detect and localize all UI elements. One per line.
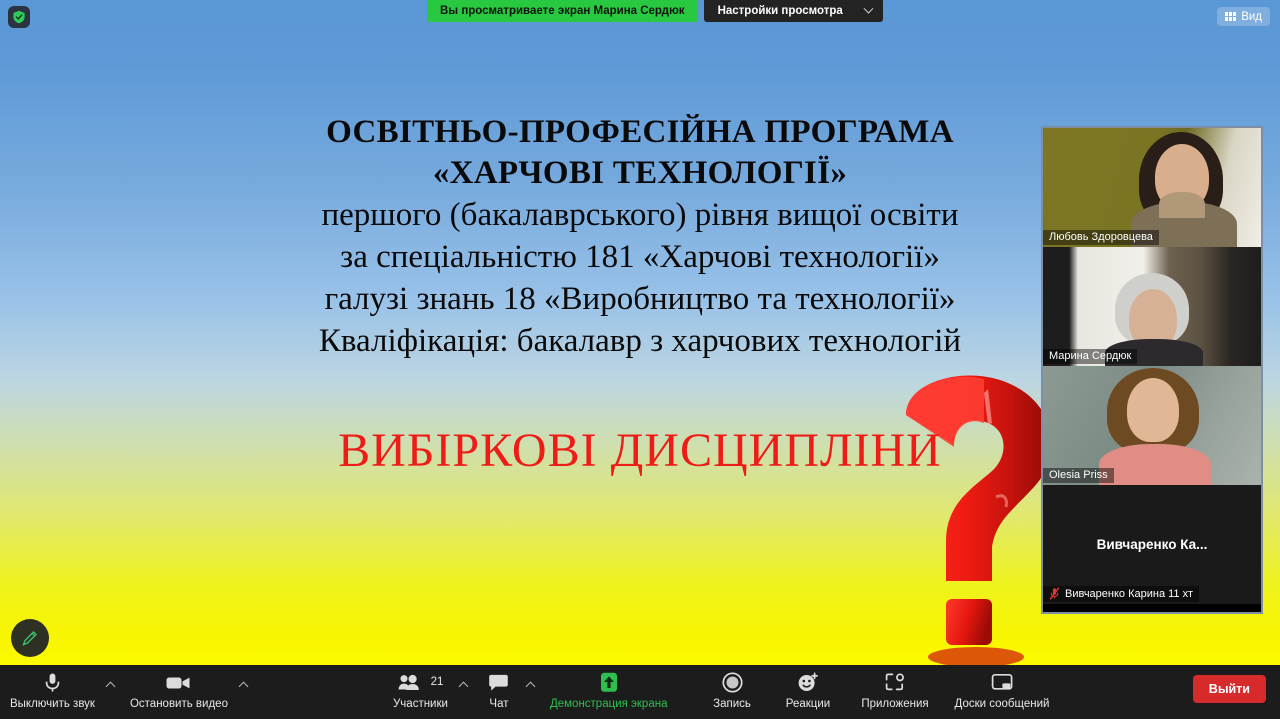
participants-count: 21 — [431, 676, 444, 689]
video-tile-marina[interactable]: Марина Сердюк — [1043, 247, 1261, 366]
whiteboards-button[interactable]: Доски сообщений — [943, 665, 1061, 711]
participant-name-text: Марина Сердюк — [1049, 350, 1131, 362]
chevron-up-icon — [239, 682, 249, 692]
participant-name-text: Вивчаренко Карина 11 хт — [1065, 588, 1193, 600]
video-tile-vyvcharenko[interactable]: Вивчаренко Ка... Вивчаренко Карина 11 хт — [1043, 485, 1261, 604]
chat-options-caret[interactable] — [521, 677, 540, 695]
apps-button[interactable]: Приложения — [847, 665, 943, 711]
pencil-icon — [20, 628, 40, 648]
view-settings-button[interactable]: Настройки просмотра — [704, 0, 883, 22]
chevron-up-icon — [526, 682, 536, 692]
participant-name-label: Вивчаренко Карина 11 хт — [1043, 586, 1199, 602]
view-label: Вид — [1241, 11, 1262, 23]
participant-name-text: Olesia Priss — [1049, 469, 1108, 481]
video-tile-olesia[interactable]: Olesia Priss — [1043, 366, 1261, 485]
view-settings-label: Настройки просмотра — [718, 5, 843, 17]
participants-icon: 21 — [398, 672, 444, 693]
participant-name-label: Марина Сердюк — [1043, 349, 1137, 364]
zoom-meeting-window: ОСВІТНЬО-ПРОФЕСІЙНА ПРОГРАМА «ХАРЧОВІ ТЕ… — [0, 0, 1280, 719]
participants-button[interactable]: 21 Участники — [383, 665, 458, 711]
mute-audio-label: Выключить звук — [10, 698, 95, 711]
participants-label: Участники — [393, 698, 448, 711]
record-button[interactable]: Запись — [695, 665, 769, 711]
audio-options-caret[interactable] — [101, 677, 120, 695]
reactions-icon — [797, 672, 819, 693]
meeting-toolbar: Выключить звук Остановить видео — [0, 665, 1280, 719]
stop-video-button[interactable]: Остановить видео — [120, 665, 238, 711]
mic-muted-icon — [1049, 587, 1060, 600]
chat-button[interactable]: Чат — [473, 665, 525, 711]
share-screen-icon — [596, 672, 622, 693]
video-filmstrip: Любовь Здоровцева Марина Сердюк Olesia P… — [1041, 126, 1263, 614]
participant-name-label: Olesia Priss — [1043, 468, 1114, 483]
apps-icon — [885, 672, 906, 693]
record-label: Запись — [713, 698, 751, 711]
chevron-up-icon — [459, 682, 469, 692]
grid-layout-icon — [1225, 12, 1236, 21]
video-options-caret[interactable] — [234, 677, 253, 695]
chevron-down-icon — [863, 3, 873, 13]
video-camera-icon — [166, 672, 191, 693]
chat-bubble-icon — [488, 672, 509, 693]
share-screen-button[interactable]: Демонстрация экрана — [540, 665, 678, 711]
whiteboards-label: Доски сообщений — [955, 698, 1050, 711]
annotate-button[interactable] — [11, 619, 49, 657]
reactions-label: Реакции — [786, 698, 830, 711]
view-layout-button[interactable]: Вид — [1217, 7, 1270, 26]
video-tile-lyubov[interactable]: Любовь Здоровцева — [1043, 128, 1261, 247]
screen-share-notice: Вы просматриваете экран Марина Сердюк — [427, 0, 698, 22]
stop-video-label: Остановить видео — [130, 698, 228, 711]
shield-check-icon — [12, 10, 26, 24]
whiteboard-icon — [991, 672, 1014, 693]
reactions-button[interactable]: Реакции — [769, 665, 847, 711]
share-screen-label: Демонстрация экрана — [550, 698, 668, 711]
microphone-icon — [44, 672, 61, 693]
chat-label: Чат — [489, 698, 508, 711]
leave-meeting-button[interactable]: Выйти — [1193, 675, 1266, 703]
record-icon — [722, 672, 743, 693]
participant-name-label: Любовь Здоровцева — [1043, 230, 1159, 245]
participant-name-text: Любовь Здоровцева — [1049, 231, 1153, 243]
chevron-up-icon — [106, 682, 116, 692]
participants-options-caret[interactable] — [454, 677, 473, 695]
meeting-security-button[interactable] — [8, 6, 30, 28]
apps-label: Приложения — [861, 698, 928, 711]
participant-initials-name: Вивчаренко Ка... — [1097, 537, 1208, 552]
mute-audio-button[interactable]: Выключить звук — [0, 665, 105, 711]
